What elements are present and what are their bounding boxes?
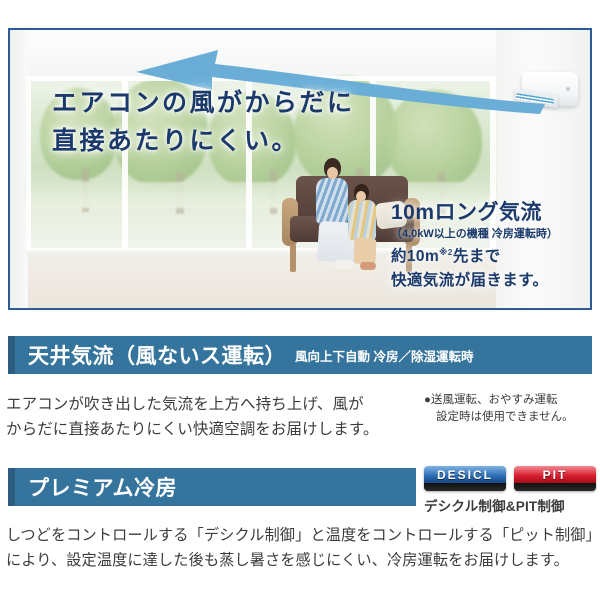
footnote-marker: ※2 [439,247,453,257]
note-line2: 設定時は使用できません。 [424,409,574,426]
long-airflow-body-line2: 快適気流が届きます。 [391,269,558,292]
hero-headline: エアコンの風がからだに 直接あたりにくい。 [52,86,355,161]
hero-headline-line2: 直接あたりにくい。 [52,124,355,160]
window-frame-left [26,76,31,251]
long-airflow-reach: 先まで [453,248,501,265]
long-airflow-title: 10mロング気流 [391,201,558,225]
sofa-leg [290,244,296,272]
pit-badge: PIT [514,466,596,491]
section-title-premium-cooling: プレミアム冷房 [28,472,177,502]
adult-face [327,167,338,179]
ceiling-body-line2: からだに直接あたりにくい快適空調をお届けします。 [6,417,379,442]
hero-headline-line1: エアコンの風がからだに [52,86,355,122]
control-badges: DESICL PIT デシクル制御&PIT制御 [424,466,596,515]
child-torso [348,200,376,240]
child-shoe [360,262,376,270]
section-title-ceiling-airflow: 天井気流（風ないス運転） [28,340,286,370]
desicl-badge-label: DESICL [424,468,506,482]
badge-caption: デシクル制御&PIT制御 [424,495,596,515]
child-legs [354,238,377,265]
long-airflow-condition: （4.0kW以上の機種 冷房運転時） [391,228,558,241]
badge-row: DESICL PIT [424,466,596,491]
desicl-badge: DESICL [424,466,506,491]
pit-badge-label: PIT [514,468,596,482]
ceiling-body-line1: エアコンが吹き出した気流を上方へ持ち上げ、風が [6,392,379,417]
note-line1: ●送風運転、おやすみ運転 [424,392,574,409]
premium-body-line2: により、設定温度に達した後も蒸し暑さを感じにくい、冷房運転をお届けします。 [6,549,600,574]
long-airflow-body: 約10m※2先まで 快適気流が届きます。 [391,245,558,292]
desicl-badge-band [424,483,506,491]
child-face [356,191,366,202]
section-body-premium-cooling: しつどをコントロールする「デシクル制御」と温度をコントロールする「ピット制御」 … [6,524,600,573]
ceiling-airflow-note: ●送風運転、おやすみ運転 設定時は使用できません。 [424,392,574,427]
premium-body-line1: しつどをコントロールする「デシクル制御」と温度をコントロールする「ピット制御」 [6,524,600,549]
pit-badge-band [514,483,596,491]
section-subtitle-ceiling-airflow: 風向上下自動 冷房／除湿運転時 [295,346,473,365]
adult-shoe [334,260,354,269]
adult-torso [316,178,348,224]
section-header-premium-cooling: プレミアム冷房 [8,468,416,506]
hero-side-copy: 10mロング気流 （4.0kW以上の機種 冷房運転時） 約10m※2先まで 快適… [391,201,558,292]
hero-banner: エアコンの風がからだに 直接あたりにくい。 10mロング気流 （4.0kW以上の… [8,28,592,310]
section-body-ceiling-airflow: エアコンが吹き出した気流を上方へ持ち上げ、風が からだに直接あたりにくい快適空調… [6,392,379,442]
section-header-ceiling-airflow: 天井気流（風ないス運転） 風向上下自動 冷房／除湿運転時 [8,336,592,374]
long-airflow-distance: 約10m [391,248,439,265]
ac-sensor-icon [566,87,570,91]
